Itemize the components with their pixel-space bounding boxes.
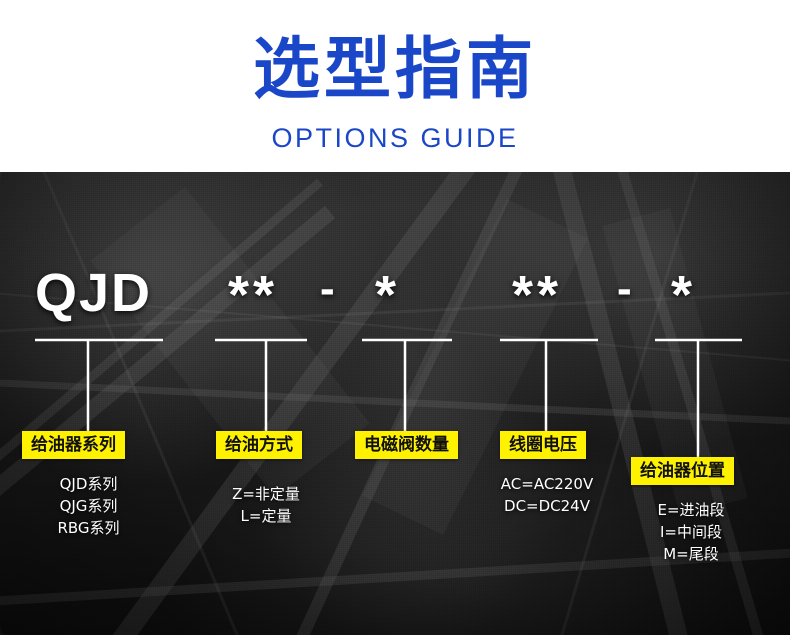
option-item: L=定量: [206, 505, 326, 527]
option-item: Z=非定量: [206, 483, 326, 505]
callout-label-series: 给油器系列: [22, 431, 125, 459]
callout-options-series: QJD系列 QJG系列 RBG系列: [22, 473, 155, 539]
callout-options-coil-voltage: AC=AC220V DC=DC24V: [482, 473, 612, 517]
callout-label-coil-voltage: 线圈电压: [500, 431, 586, 459]
option-item: QJG系列: [22, 495, 155, 517]
options-guide-page: 选型指南 OPTIONS GUIDE: [0, 0, 790, 635]
page-header: 选型指南 OPTIONS GUIDE: [0, 0, 790, 172]
page-title-en: OPTIONS GUIDE: [0, 122, 790, 154]
callout-options-lube-mode: Z=非定量 L=定量: [206, 483, 326, 527]
option-item: AC=AC220V: [482, 473, 612, 495]
callout-label-valve-count: 电磁阀数量: [355, 431, 458, 459]
option-item: RBG系列: [22, 517, 155, 539]
model-code-diagram-panel: QJD ** - * ** - *: [0, 172, 790, 635]
callout-options-position: E=进油段 I=中间段 M=尾段: [620, 499, 762, 565]
option-item: DC=DC24V: [482, 495, 612, 517]
callout-label-position: 给油器位置: [631, 457, 734, 485]
option-item: QJD系列: [22, 473, 155, 495]
option-item: I=中间段: [620, 521, 762, 543]
option-item: M=尾段: [620, 543, 762, 565]
page-title-cn: 选型指南: [0, 30, 790, 108]
callout-label-lube-mode: 给油方式: [216, 431, 302, 459]
callout-leader-lines: [0, 172, 790, 635]
option-item: E=进油段: [620, 499, 762, 521]
